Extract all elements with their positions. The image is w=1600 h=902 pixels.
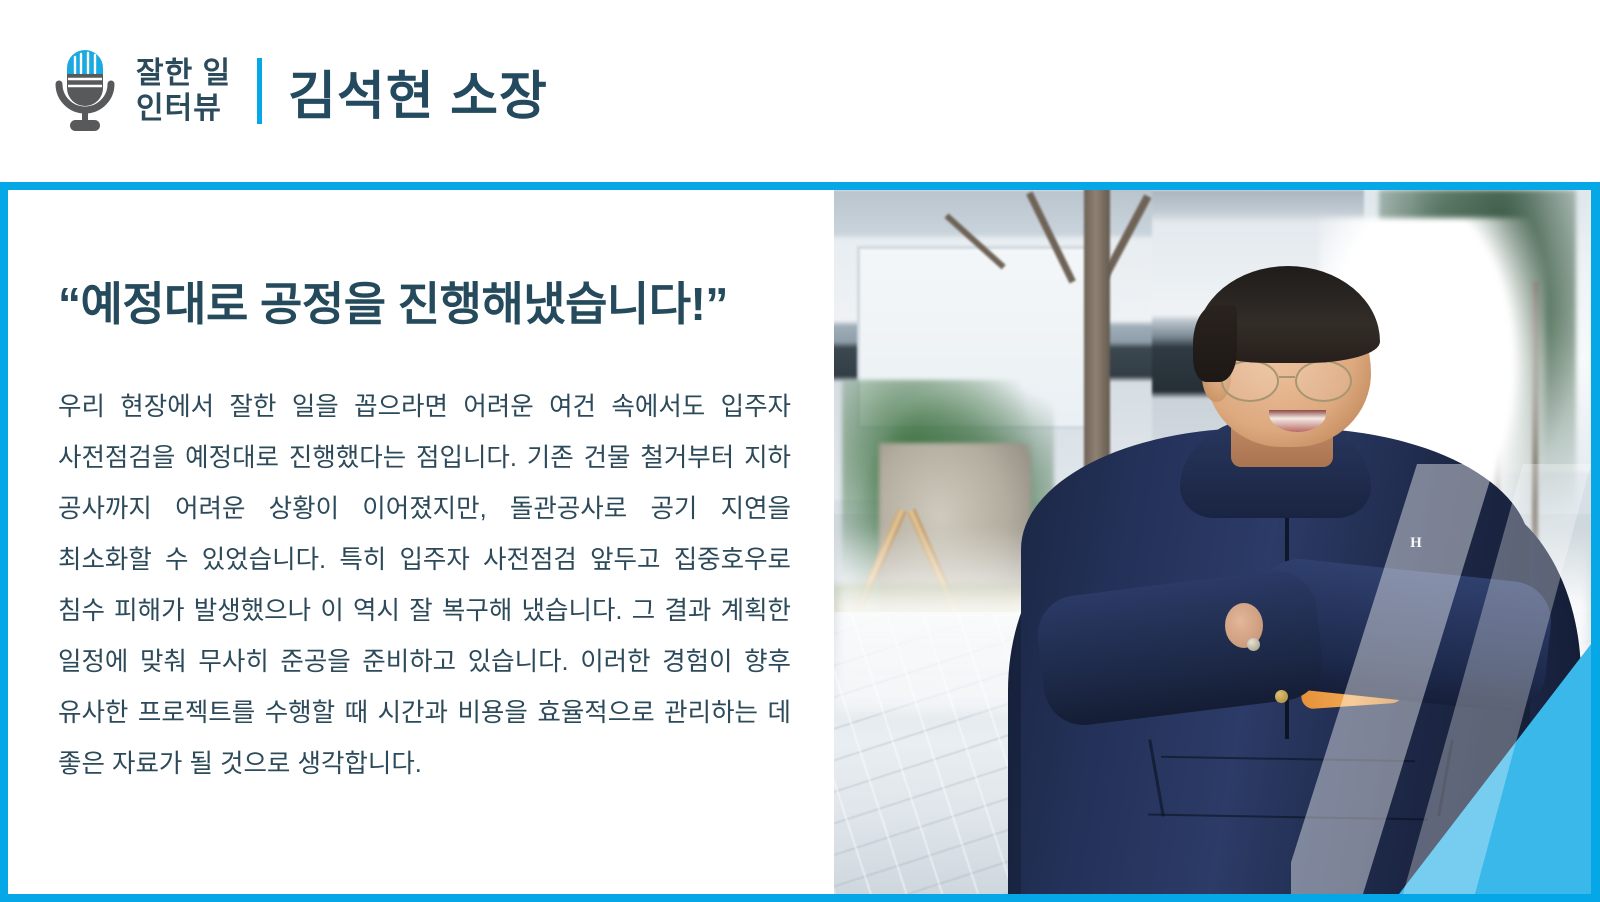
interview-card: “예정대로 공정을 진행해냈습니다!” 우리 현장에서 잘한 일을 꼽으라면 어… — [0, 182, 1600, 902]
microphone-icon — [54, 48, 116, 134]
person-figure: H — [970, 246, 1591, 894]
interview-body: 우리 현장에서 잘한 일을 꼽으라면 어려운 여건 속에서도 입주자 사전점검을… — [58, 382, 791, 790]
quote-headline: “예정대로 공정을 진행해냈습니다!” — [58, 268, 794, 334]
vertical-divider — [257, 58, 262, 124]
brand-name: 잘한 일 인터뷰 — [136, 56, 231, 127]
page-title: 김석현 소장 — [288, 54, 548, 129]
brand-line-1: 잘한 일 — [136, 56, 231, 91]
photo-scene: H — [834, 190, 1591, 894]
hair-sideburn — [1193, 305, 1238, 383]
eyeglasses-bridge — [1279, 376, 1295, 379]
brand-line-2: 인터뷰 — [136, 91, 231, 126]
interview-photo: H — [834, 190, 1591, 894]
eyeglasses-lens — [1295, 360, 1352, 402]
jacket-logo: H — [1410, 535, 1422, 552]
sleeve-button — [1247, 638, 1260, 651]
page-header: 잘한 일 인터뷰 김석현 소장 — [0, 0, 1600, 182]
quote-column: “예정대로 공정을 진행해냈습니다!” 우리 현장에서 잘한 일을 꼽으라면 어… — [8, 190, 834, 894]
